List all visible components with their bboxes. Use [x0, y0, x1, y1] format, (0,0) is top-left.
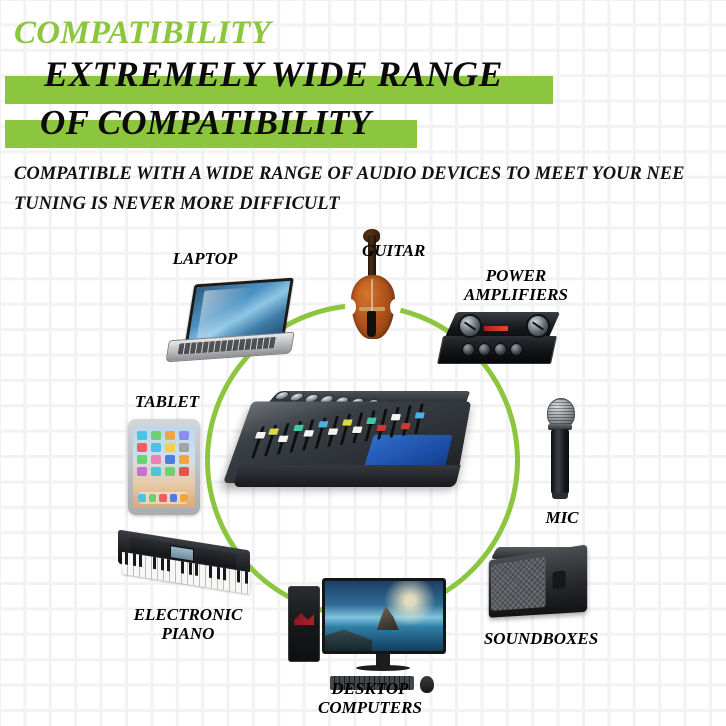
amplifier-display-icon — [484, 326, 508, 331]
node-laptop — [168, 281, 298, 361]
label-guitar: GUITAR — [362, 241, 472, 260]
pc-tower-icon — [288, 586, 320, 662]
label-piano: ELECTRONIC PIANO — [106, 605, 270, 643]
amplifier-dial-right — [526, 314, 550, 338]
label-amplifier: POWER AMPLIFIERS — [452, 266, 580, 304]
monitor-icon — [322, 578, 446, 654]
node-mic — [537, 398, 587, 504]
label-laptop: LAPTOP — [150, 249, 260, 268]
mixer-side-chassis — [233, 465, 460, 487]
soundbox-grille-icon — [491, 557, 546, 611]
label-soundbox: SOUNDBOXES — [474, 629, 608, 648]
amplifier-dial-left — [458, 314, 482, 338]
node-amplifier — [440, 312, 570, 370]
tablet-icon — [128, 419, 200, 515]
audio-mixer-icon — [228, 373, 480, 513]
header-kicker: COMPATIBILITY — [14, 16, 271, 50]
infographic-canvas: COMPATIBILITY EXTREMELY WIDE RANGE OF CO… — [0, 0, 726, 726]
label-desktop: DESKTOP COMPUTERS — [300, 679, 440, 717]
label-mic: MIC — [517, 508, 607, 527]
headline-line-1: EXTREMELY WIDE RANGE — [44, 55, 503, 93]
node-soundbox — [482, 545, 594, 629]
label-tablet: TABLET — [112, 392, 222, 411]
laptop-base-icon — [165, 332, 294, 363]
node-piano — [118, 540, 258, 602]
headline-line-2: OF COMPATIBILITY — [40, 104, 371, 142]
subtitle-line-2: TUNING IS NEVER MORE DIFFICULT — [14, 193, 340, 215]
node-desktop — [288, 578, 452, 694]
mic-handle-icon — [551, 429, 569, 495]
soundbox-handle-icon — [552, 570, 565, 589]
node-tablet — [128, 419, 204, 519]
subtitle-line-1: COMPATIBLE WITH A WIDE RANGE OF AUDIO DE… — [14, 163, 684, 185]
